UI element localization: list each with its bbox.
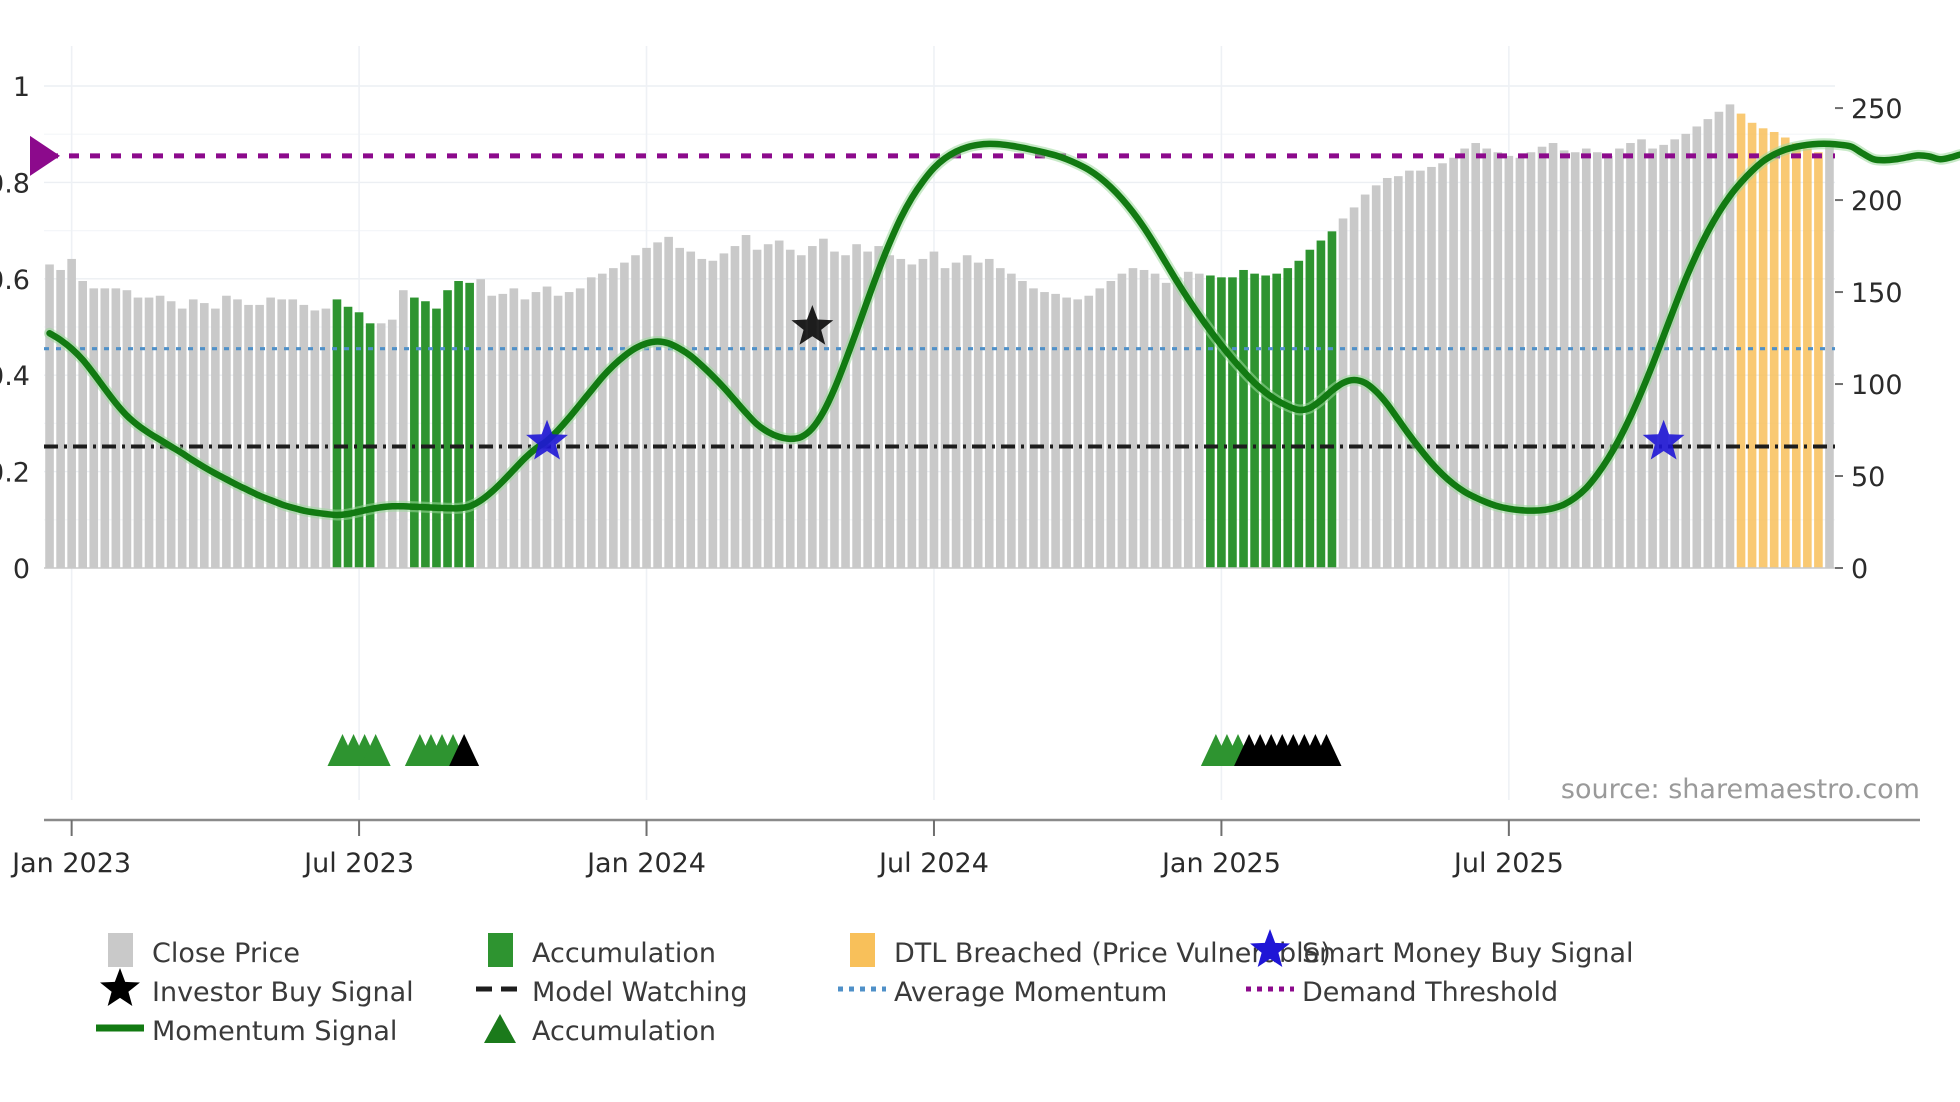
bar-close-price[interactable] [941, 268, 950, 568]
x-axis-tick-label: Jul 2024 [877, 848, 989, 879]
bar-close-price[interactable] [974, 263, 983, 568]
x-axis-tick-label: Jul 2023 [302, 848, 414, 879]
bar-close-price[interactable] [1107, 281, 1116, 568]
right-axis-tick-label: 50 [1851, 462, 1885, 493]
bar-dtl-breached[interactable] [1803, 149, 1812, 568]
legend-label-investor-buy-signal: Investor Buy Signal [152, 977, 414, 1008]
legend-label-average-momentum: Average Momentum [894, 977, 1167, 1008]
bar-close-price[interactable] [78, 281, 87, 568]
bar-accumulation[interactable] [1217, 277, 1226, 568]
bar-close-price[interactable] [255, 305, 264, 568]
bar-close-price[interactable] [908, 264, 917, 568]
legend-label-accumulation-triangle: Accumulation [532, 1016, 716, 1047]
bar-close-price[interactable] [1350, 207, 1359, 568]
legend-item-average-momentum[interactable]: Average Momentum [838, 977, 1167, 1008]
bar-close-price[interactable] [45, 264, 54, 568]
bar-close-price[interactable] [1715, 112, 1724, 568]
source-note: source: sharemaestro.com [1561, 774, 1920, 805]
bar-close-price[interactable] [67, 259, 76, 568]
bar-close-price[interactable] [112, 288, 121, 568]
bar-close-price[interactable] [1007, 274, 1016, 568]
bar-close-price[interactable] [487, 296, 496, 568]
legend-swatch-close-price [108, 933, 133, 967]
bar-close-price[interactable] [885, 255, 894, 568]
bar-close-price[interactable] [200, 303, 209, 568]
bar-close-price[interactable] [1372, 185, 1381, 568]
x-axis-tick-label: Jul 2025 [1452, 848, 1564, 879]
bar-close-price[interactable] [852, 244, 861, 568]
bar-close-price[interactable] [123, 290, 132, 568]
bar-close-price[interactable] [233, 299, 242, 568]
bar-accumulation[interactable] [410, 298, 419, 568]
bar-close-price[interactable] [1593, 152, 1602, 568]
legend-label-model-watching: Model Watching [532, 977, 747, 1008]
bar-accumulation[interactable] [344, 307, 353, 568]
bar-close-price[interactable] [764, 244, 773, 568]
legend-label-smart-money-buy-signal: Smart Money Buy Signal [1302, 938, 1634, 969]
bar-close-price[interactable] [244, 305, 253, 568]
bar-close-price[interactable] [1140, 270, 1149, 568]
demand-threshold-arrow-icon [30, 136, 60, 176]
bar-close-price[interactable] [1825, 141, 1834, 568]
bar-close-price[interactable] [985, 259, 994, 568]
bar-close-price[interactable] [709, 261, 718, 568]
accumulation-triangles [328, 734, 1342, 766]
bar-close-price[interactable] [1029, 288, 1038, 568]
legend-label-accumulation-bar: Accumulation [532, 938, 716, 969]
bar-close-price[interactable] [1018, 281, 1027, 568]
bar-dtl-breached[interactable] [1748, 123, 1757, 568]
legend-item-model-watching[interactable]: Model Watching [476, 977, 747, 1008]
bar-close-price[interactable] [952, 263, 961, 568]
legend-item-momentum-signal[interactable]: Momentum Signal [96, 1016, 397, 1047]
bar-close-price[interactable] [830, 252, 839, 568]
bar-close-price[interactable] [1184, 272, 1193, 568]
bar-close-price[interactable] [576, 288, 585, 568]
bar-close-price[interactable] [1637, 139, 1646, 568]
bar-dtl-breached[interactable] [1792, 143, 1801, 568]
bar-close-price[interactable] [1162, 283, 1171, 568]
bar-close-price[interactable] [1129, 268, 1138, 568]
bar-close-price[interactable] [620, 263, 629, 568]
bar-close-price[interactable] [476, 279, 485, 568]
bar-accumulation[interactable] [454, 281, 463, 568]
right-axis-tick-label: 0 [1851, 554, 1868, 585]
bar-accumulation[interactable] [1283, 268, 1292, 568]
bar-close-price[interactable] [1604, 156, 1613, 568]
bar-close-price[interactable] [1151, 274, 1160, 568]
bar-accumulation[interactable] [465, 283, 474, 568]
bar-close-price[interactable] [919, 259, 928, 568]
bar-close-price[interactable] [686, 252, 695, 568]
legend-swatch-accumulation-bar [488, 933, 513, 967]
bar-close-price[interactable] [89, 288, 98, 568]
bar-close-price[interactable] [1582, 149, 1591, 568]
bar-accumulation[interactable] [432, 309, 441, 568]
bar-close-price[interactable] [1449, 158, 1458, 568]
bar-close-price[interactable] [388, 320, 397, 568]
legend-item-investor-buy-signal[interactable]: Investor Buy Signal [100, 968, 414, 1008]
left-axis-tick-label: 0.6 [0, 265, 30, 296]
bar-dtl-breached[interactable] [1814, 152, 1823, 568]
bar-close-price[interactable] [1438, 163, 1447, 568]
bar-close-price[interactable] [189, 299, 198, 568]
bar-accumulation[interactable] [1272, 274, 1281, 568]
bar-close-price[interactable] [963, 255, 972, 568]
bar-close-price[interactable] [1062, 298, 1071, 568]
bar-accumulation[interactable] [1239, 270, 1248, 568]
bar-close-price[interactable] [697, 259, 706, 568]
legend-item-accumulation-bar[interactable]: Accumulation [488, 933, 716, 969]
left-axis-tick-label: 0.2 [0, 458, 30, 489]
bar-close-price[interactable] [266, 298, 275, 568]
legend-item-smart-money-buy-signal[interactable]: Smart Money Buy Signal [1250, 929, 1633, 969]
legend-swatch-dtl-breached [850, 933, 875, 967]
bar-close-price[interactable] [1726, 104, 1735, 568]
bar-dtl-breached[interactable] [1781, 138, 1790, 568]
legend-triangle-icon-accumulation-triangle [484, 1014, 516, 1043]
legend-label-close-price: Close Price [152, 938, 300, 969]
bar-close-price[interactable] [498, 294, 507, 568]
bar-close-price[interactable] [1626, 143, 1635, 568]
bar-close-price[interactable] [841, 255, 850, 568]
bar-close-price[interactable] [288, 299, 297, 568]
bar-close-price[interactable] [1615, 149, 1624, 568]
bar-close-price[interactable] [399, 290, 408, 568]
legend-item-close-price[interactable]: Close Price [108, 933, 300, 969]
bar-close-price[interactable] [1040, 292, 1049, 568]
bar-close-price[interactable] [808, 246, 817, 568]
bar-close-price[interactable] [1118, 274, 1127, 568]
bar-close-price[interactable] [631, 255, 640, 568]
bar-close-price[interactable] [587, 277, 596, 568]
left-axis-tick-label: 0 [13, 554, 30, 585]
bar-accumulation[interactable] [333, 299, 342, 568]
bar-close-price[interactable] [753, 250, 762, 568]
bar-close-price[interactable] [675, 248, 684, 568]
left-axis-tick-label: 0.4 [0, 361, 30, 392]
bar-close-price[interactable] [896, 259, 905, 568]
left-axis-tick-label: 1 [13, 72, 30, 103]
bar-accumulation[interactable] [421, 301, 430, 568]
bar-close-price[interactable] [1073, 299, 1082, 568]
bar-close-price[interactable] [565, 292, 574, 568]
bar-close-price[interactable] [1051, 294, 1060, 568]
bar-accumulation[interactable] [1250, 274, 1259, 568]
bar-close-price[interactable] [510, 288, 519, 568]
stock-momentum-chart: 00.20.40.60.81050100150200250Jan 2023Jul… [0, 0, 1960, 1102]
bar-close-price[interactable] [100, 288, 109, 568]
bar-close-price[interactable] [874, 246, 883, 568]
bar-close-price[interactable] [609, 268, 618, 568]
legend-item-demand-threshold[interactable]: Demand Threshold [1246, 977, 1558, 1008]
legend-item-accumulation-triangle[interactable]: Accumulation [484, 1014, 716, 1047]
legend: Close PriceAccumulationDTL Breached (Pri… [96, 929, 1634, 1047]
bar-close-price[interactable] [1095, 288, 1104, 568]
x-axis-tick-label: Jan 2024 [585, 848, 706, 879]
bar-close-price[interactable] [598, 274, 607, 568]
bar-accumulation[interactable] [443, 290, 452, 568]
bar-close-price[interactable] [277, 299, 286, 568]
legend-label-demand-threshold: Demand Threshold [1302, 977, 1558, 1008]
x-axis-tick-label: Jan 2025 [1160, 848, 1281, 879]
x-axis-tick-label: Jan 2023 [10, 848, 131, 879]
bar-accumulation[interactable] [1261, 275, 1270, 568]
bar-close-price[interactable] [222, 296, 231, 568]
bar-close-price[interactable] [664, 237, 673, 568]
bar-close-price[interactable] [1681, 134, 1690, 568]
legend-label-momentum-signal: Momentum Signal [152, 1016, 397, 1047]
bar-close-price[interactable] [532, 292, 541, 568]
legend-star-icon-investor-buy-signal [100, 968, 140, 1006]
bar-close-price[interactable] [1692, 126, 1701, 568]
bar-close-price[interactable] [1704, 119, 1713, 568]
right-axis-tick-label: 250 [1851, 94, 1903, 125]
right-axis-tick-label: 100 [1851, 370, 1903, 401]
bar-close-price[interactable] [1460, 149, 1469, 568]
chart-root: 00.20.40.60.81050100150200250Jan 2023Jul… [0, 0, 1960, 1102]
bar-close-price[interactable] [167, 301, 176, 568]
right-axis-tick-label: 150 [1851, 278, 1903, 309]
bar-close-price[interactable] [1670, 139, 1679, 568]
bar-close-price[interactable] [1427, 167, 1436, 568]
bar-close-price[interactable] [1173, 277, 1182, 568]
bar-close-price[interactable] [642, 248, 651, 568]
bar-close-price[interactable] [797, 255, 806, 568]
bar-close-price[interactable] [775, 241, 784, 568]
bar-close-price[interactable] [786, 250, 795, 568]
bar-accumulation[interactable] [1228, 277, 1237, 568]
bar-close-price[interactable] [1394, 176, 1403, 568]
bar-close-price[interactable] [56, 270, 65, 568]
bar-close-price[interactable] [1405, 171, 1414, 568]
bar-close-price[interactable] [1339, 218, 1348, 568]
bar-close-price[interactable] [996, 268, 1005, 568]
bar-close-price[interactable] [1383, 178, 1392, 568]
bar-close-price[interactable] [1084, 296, 1093, 568]
bar-close-price[interactable] [930, 252, 939, 568]
bar-close-price[interactable] [720, 253, 729, 568]
bar-close-price[interactable] [1416, 171, 1425, 568]
bar-close-price[interactable] [299, 305, 308, 568]
bar-accumulation[interactable] [355, 312, 364, 568]
bar-close-price[interactable] [521, 299, 530, 568]
bar-close-price[interactable] [653, 242, 662, 568]
left-axis-tick-label: 0.8 [0, 168, 30, 199]
right-axis-tick-label: 200 [1851, 186, 1903, 217]
